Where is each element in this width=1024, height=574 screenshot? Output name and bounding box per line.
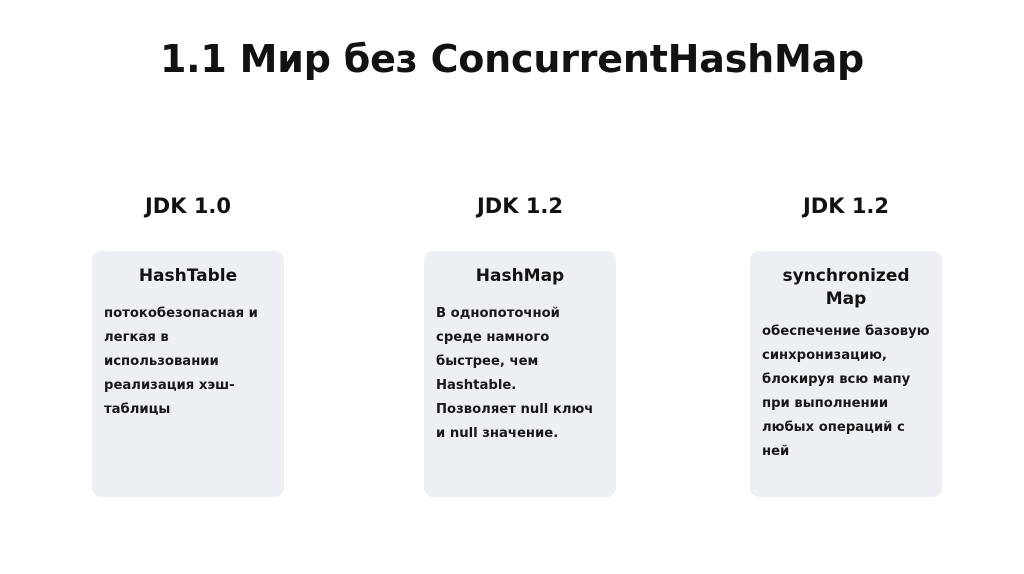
column-heading-1: JDK 1.0 [92, 193, 284, 223]
card-body-hashtable: потокобезопасная и легкая в использовани… [104, 302, 272, 422]
card-title-synchronized-map: synchronized Map [762, 265, 930, 311]
card-synchronized-map: synchronized Map обеспечение базовую син… [750, 251, 942, 497]
card-body-synchronized-map: обеспечение базовую синхронизацию, блоки… [762, 320, 930, 464]
card-title-hashtable: HashTable [104, 265, 272, 288]
column-heading-2: JDK 1.2 [424, 193, 616, 223]
slide-canvas: 1.1 Мир без ConcurrentHashMap JDK 1.0 Ha… [0, 0, 1024, 574]
column-jdk-1-0: JDK 1.0 HashTable потокобезопасная и лег… [92, 193, 284, 497]
column-heading-3: JDK 1.2 [750, 193, 942, 223]
page-title: 1.1 Мир без ConcurrentHashMap [0, 36, 1024, 82]
column-jdk-1-2-synchronized-map: JDK 1.2 synchronized Map обеспечение баз… [750, 193, 942, 497]
card-body-hashmap: В однопоточной среде намного быстрее, че… [436, 302, 604, 446]
columns-container: JDK 1.0 HashTable потокобезопасная и лег… [0, 193, 1024, 513]
column-jdk-1-2-hashmap: JDK 1.2 HashMap В однопоточной среде нам… [424, 193, 616, 497]
card-hashmap: HashMap В однопоточной среде намного быс… [424, 251, 616, 497]
card-hashtable: HashTable потокобезопасная и легкая в ис… [92, 251, 284, 497]
card-title-hashmap: HashMap [436, 265, 604, 288]
